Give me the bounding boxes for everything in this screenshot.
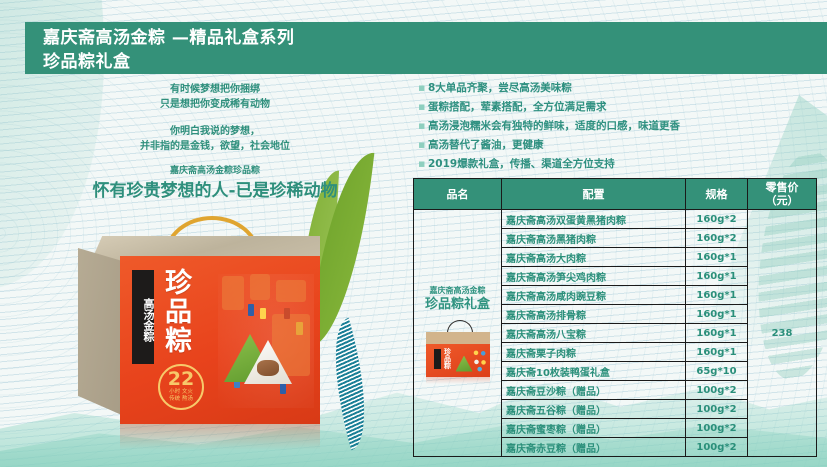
giftbox-badge: 22 小时 文火 传统 熬汤 (158, 364, 204, 410)
cell-config: 嘉庆斋高汤八宝粽 (502, 324, 686, 343)
giftbox-badge-sub1: 小时 文火 (160, 389, 202, 396)
list-item: ▪ 高汤浸泡糯米会有独特的鲜味，适度的口感，味道更香 (418, 118, 818, 134)
column-header-price: 零售价 （元） (748, 179, 817, 210)
cell-spec: 160g*2 (686, 210, 748, 229)
poem-spacer (30, 112, 400, 124)
giftbox-side-panel (78, 248, 124, 416)
bullet-text: 8大单品齐聚，尝尽高汤美味粽 (428, 80, 572, 96)
cell-config: 嘉庆斋10枚装鸭蛋礼盒 (502, 362, 686, 381)
cell-config: 嘉庆斋高汤咸肉豌豆粽 (502, 286, 686, 305)
art-figure (284, 308, 290, 319)
list-item: ▪ 2019爆款礼盒，传播、渠道全方位支持 (418, 156, 818, 172)
cell-spec: 160g*1 (686, 286, 748, 305)
cell-config: 嘉庆斋栗子肉粽 (502, 343, 686, 362)
bullet-marker-icon: ▪ (418, 118, 428, 134)
giftbox-main-label: 珍品粽 (160, 268, 190, 355)
cell-config: 嘉庆斋蜜枣粽（赠品） (502, 419, 686, 438)
bullet-marker-icon: ▪ (418, 80, 428, 96)
poem-subtitle: 嘉庆斋高汤金粽珍品粽 (30, 164, 400, 178)
giftbox-front-panel: 高汤金粽 珍品粽 22 小时 文火 传统 熬汤 (120, 256, 320, 424)
bullet-text: 高汤浸泡糯米会有独特的鲜味，适度的口感，味道更香 (428, 118, 680, 134)
mini-giftbox-band (434, 349, 441, 369)
cell-spec: 65g*10 (686, 362, 748, 381)
poem-line-2: 只是想把你变成稀有动物 (30, 97, 400, 112)
giftbox-black-band-label: 高汤金粽 (132, 270, 154, 364)
art-panel (222, 276, 244, 310)
cell-config: 嘉庆斋五谷粽（赠品） (502, 400, 686, 419)
art-figure (260, 308, 266, 319)
cell-spec: 160g*1 (686, 305, 748, 324)
column-header-config: 配置 (502, 179, 686, 210)
mini-art-zongzi (456, 356, 473, 372)
giftbox-illustration-art (218, 274, 314, 408)
mini-giftbox-reflection (426, 376, 490, 384)
table-body: 嘉庆斋高汤金粽 珍品粽礼盒 珍品粽 嘉庆斋高汤双蛋黄黑 (414, 210, 817, 457)
slide-canvas: 嘉庆斋高汤金粽 —精品礼盒系列 珍品粽礼盒 有时候梦想把你捆绑 只是想把你变成稀… (0, 0, 827, 467)
art-figure (248, 304, 254, 316)
cell-price: 238 (748, 210, 817, 457)
product-name-big: 珍品粽礼盒 (414, 296, 501, 314)
cell-spec: 160g*1 (686, 248, 748, 267)
cell-product-name: 嘉庆斋高汤金粽 珍品粽礼盒 珍品粽 (414, 210, 502, 457)
feature-bullet-list: ▪ 8大单品齐聚，尝尽高汤美味粽 ▪ 蛋粽搭配，荤素搭配，全方位满足需求 ▪ 高… (418, 80, 818, 175)
page-title-line1: 嘉庆斋高汤金粽 —精品礼盒系列 (43, 26, 827, 50)
column-header-name: 品名 (414, 179, 502, 210)
mini-art-figures (472, 348, 488, 372)
bullet-text: 蛋粽搭配，荤素搭配，全方位满足需求 (428, 99, 607, 115)
cell-config: 嘉庆斋豆沙粽（赠品） (502, 381, 686, 400)
cell-spec: 160g*1 (686, 324, 748, 343)
header-band: 嘉庆斋高汤金粽 —精品礼盒系列 珍品粽礼盒 (25, 22, 827, 74)
bullet-text: 2019爆款礼盒，传播、渠道全方位支持 (428, 156, 615, 172)
table-header-row: 品名 配置 规格 零售价 （元） (414, 179, 817, 210)
list-item: ▪ 蛋粽搭配，荤素搭配，全方位满足需求 (418, 99, 818, 115)
product-spec-table: 品名 配置 规格 零售价 （元） 嘉庆斋高汤金粽 珍品粽礼盒 (413, 178, 817, 457)
poem-line-3: 你明白我说的梦想， (30, 124, 400, 139)
table-row: 嘉庆斋高汤金粽 珍品粽礼盒 珍品粽 嘉庆斋高汤双蛋黄黑 (414, 210, 817, 229)
art-panel (250, 274, 270, 300)
cell-config: 嘉庆斋高汤排骨粽 (502, 305, 686, 324)
poem-tagline: 怀有珍贵梦想的人-已是珍稀动物 (30, 179, 400, 203)
cell-spec: 160g*2 (686, 229, 748, 248)
bullet-marker-icon: ▪ (418, 156, 428, 172)
cell-spec: 100g*2 (686, 419, 748, 438)
cell-config: 嘉庆斋赤豆粽（赠品） (502, 438, 686, 457)
list-item: ▪ 8大单品齐聚，尝尽高汤美味粽 (418, 80, 818, 96)
bullet-marker-icon: ▪ (418, 99, 428, 115)
column-header-price-line2: （元） (748, 194, 816, 207)
page-title-line2: 珍品粽礼盒 (43, 50, 827, 74)
giftbox-reflection (120, 424, 320, 450)
poem-line-4: 并非指的是金钱，欲望，社会地位 (30, 139, 400, 154)
giftbox-badge-sub2: 传统 熬汤 (160, 396, 202, 403)
giftbox-badge-number: 22 (160, 369, 202, 389)
cell-config: 嘉庆斋高汤大肉粽 (502, 248, 686, 267)
poem-block: 有时候梦想把你捆绑 只是想把你变成稀有动物 你明白我说的梦想， 并非指的是金钱，… (30, 82, 400, 203)
cell-spec: 160g*1 (686, 343, 748, 362)
cell-config: 嘉庆斋高汤双蛋黄黑猪肉粽 (502, 210, 686, 229)
product-name-small: 嘉庆斋高汤金粽 (414, 285, 501, 296)
column-header-price-line1: 零售价 (748, 181, 816, 194)
list-item: ▪ 高汤替代了酱油，更健康 (418, 137, 818, 153)
bullet-text: 高汤替代了酱油，更健康 (428, 137, 544, 153)
cell-spec: 160g*1 (686, 267, 748, 286)
cell-spec: 100g*2 (686, 381, 748, 400)
cell-spec: 100g*2 (686, 400, 748, 419)
mini-giftbox-front: 珍品粽 (426, 344, 490, 377)
art-panel (276, 280, 306, 302)
column-header-spec: 规格 (686, 179, 748, 210)
table-header: 品名 配置 规格 零售价 （元） (414, 179, 817, 210)
cell-spec: 100g*2 (686, 438, 748, 457)
mini-giftbox-label: 珍品粽 (444, 348, 452, 369)
poem-line-1: 有时候梦想把你捆绑 (30, 82, 400, 97)
mini-giftbox-image: 珍品粽 (421, 320, 495, 382)
cell-config: 嘉庆斋高汤笋尖鸡肉粽 (502, 267, 686, 286)
bullet-marker-icon: ▪ (418, 137, 428, 153)
product-giftbox-image: 高汤金粽 珍品粽 22 小时 文火 传统 熬汤 (68, 218, 330, 433)
cell-config: 嘉庆斋高汤黑猪肉粽 (502, 229, 686, 248)
art-figure (296, 322, 303, 335)
